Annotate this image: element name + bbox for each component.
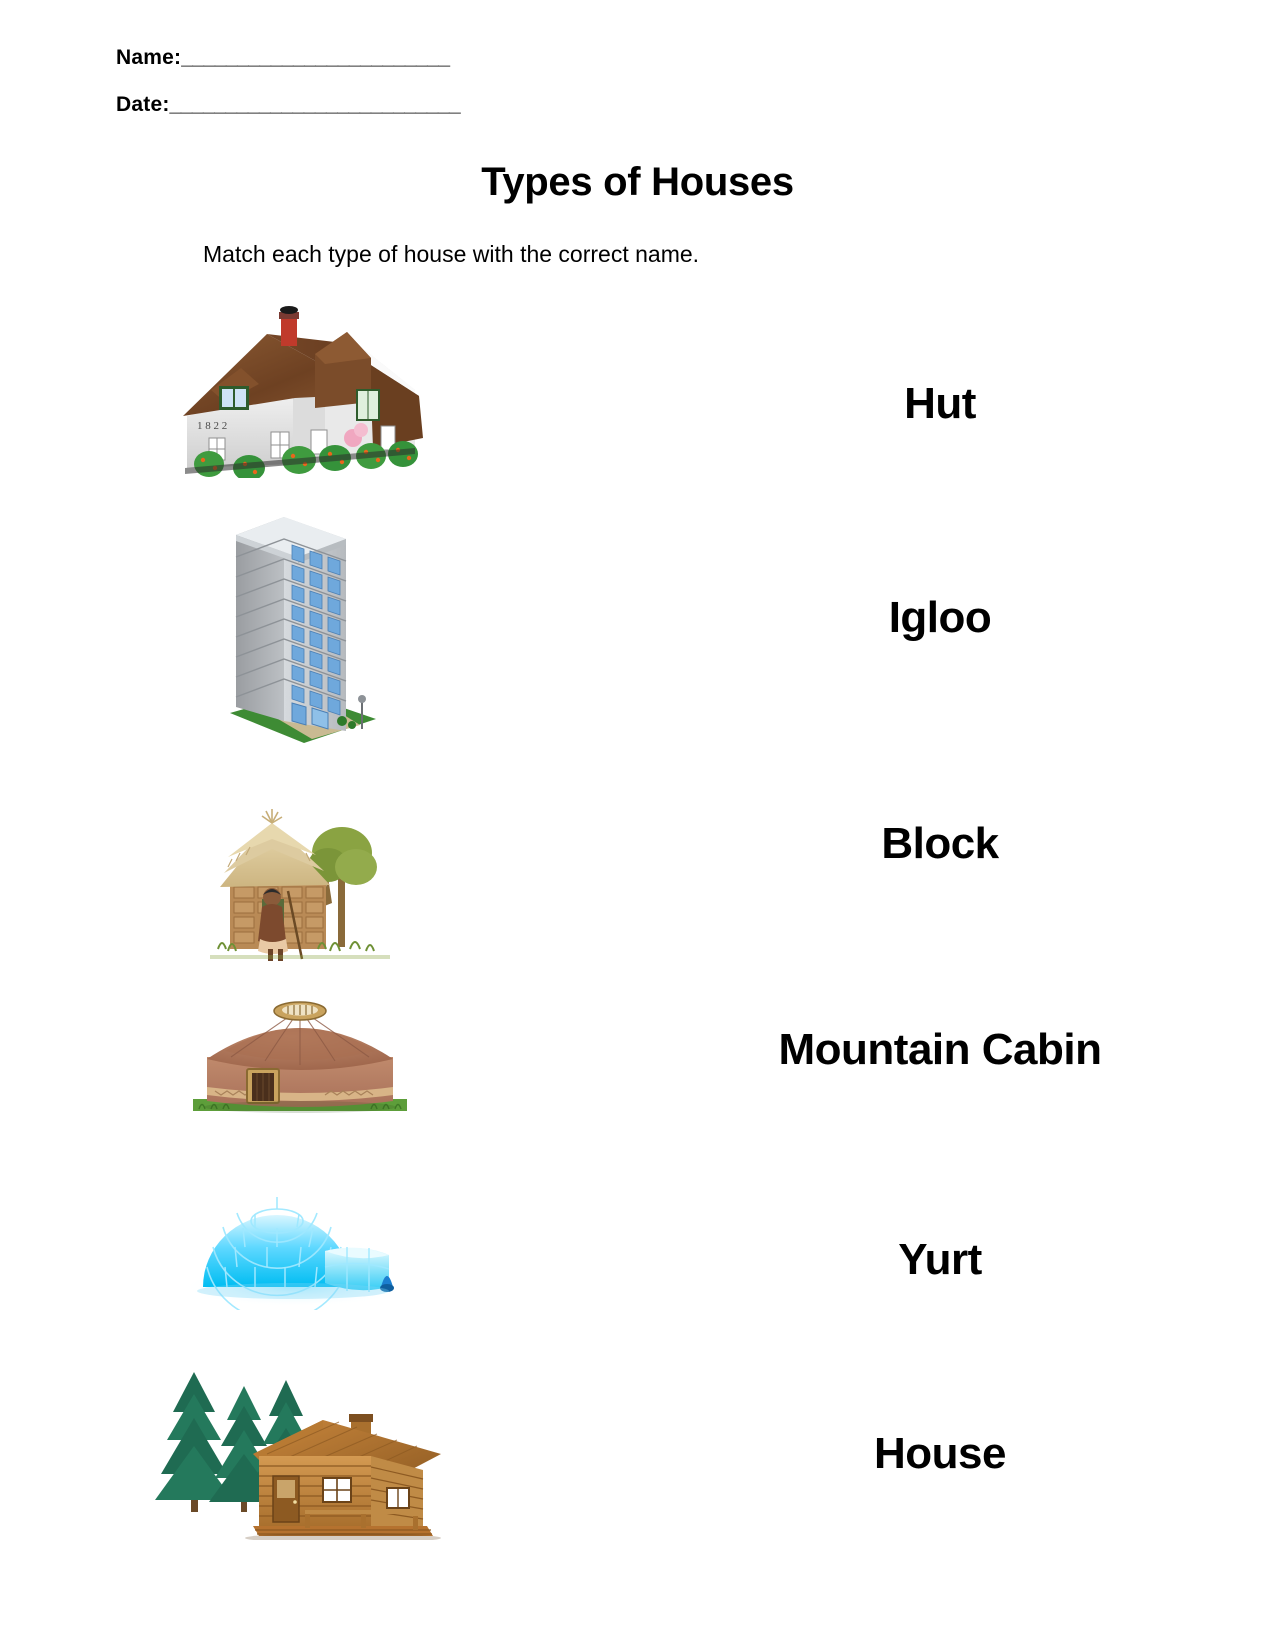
picture-straw-hut[interactable] bbox=[150, 787, 450, 962]
picture-yurt[interactable] bbox=[150, 995, 450, 1130]
page-title: Types of Houses bbox=[0, 160, 1275, 205]
picture-igloo[interactable] bbox=[150, 1155, 450, 1310]
apartment-block-icon bbox=[200, 495, 400, 745]
thatched-cottage-icon: 1 8 2 2 bbox=[175, 298, 425, 478]
word-option-yurt[interactable]: Yurt bbox=[700, 1235, 1180, 1285]
worksheet-page: Name:________________________ Date:_____… bbox=[0, 0, 1275, 1650]
picture-log-cabin[interactable] bbox=[150, 1350, 450, 1540]
log-cabin-icon bbox=[155, 1350, 445, 1540]
picture-thatched-cottage[interactable]: 1 8 2 2 bbox=[150, 295, 450, 480]
igloo-icon bbox=[175, 1155, 425, 1310]
straw-hut-icon bbox=[210, 787, 390, 962]
word-option-hut[interactable]: Hut bbox=[700, 379, 1180, 429]
date-write-line[interactable]: __________________________ bbox=[170, 93, 461, 116]
cottage-wall-digits: 1 8 2 2 bbox=[197, 420, 227, 432]
word-option-mountain-cabin[interactable]: Mountain Cabin bbox=[700, 1025, 1180, 1075]
name-label: Name: bbox=[116, 46, 181, 69]
date-field-row: Date:__________________________ bbox=[116, 93, 460, 117]
word-option-block[interactable]: Block bbox=[700, 819, 1180, 869]
word-option-house[interactable]: House bbox=[700, 1429, 1180, 1479]
picture-apartment-block[interactable] bbox=[150, 495, 450, 745]
yurt-icon bbox=[185, 995, 415, 1130]
name-write-line[interactable]: ________________________ bbox=[181, 46, 449, 69]
instructions-text: Match each type of house with the correc… bbox=[203, 241, 699, 268]
date-label: Date: bbox=[116, 93, 170, 116]
word-option-igloo[interactable]: Igloo bbox=[700, 593, 1180, 643]
name-field-row: Name:________________________ bbox=[116, 46, 450, 70]
